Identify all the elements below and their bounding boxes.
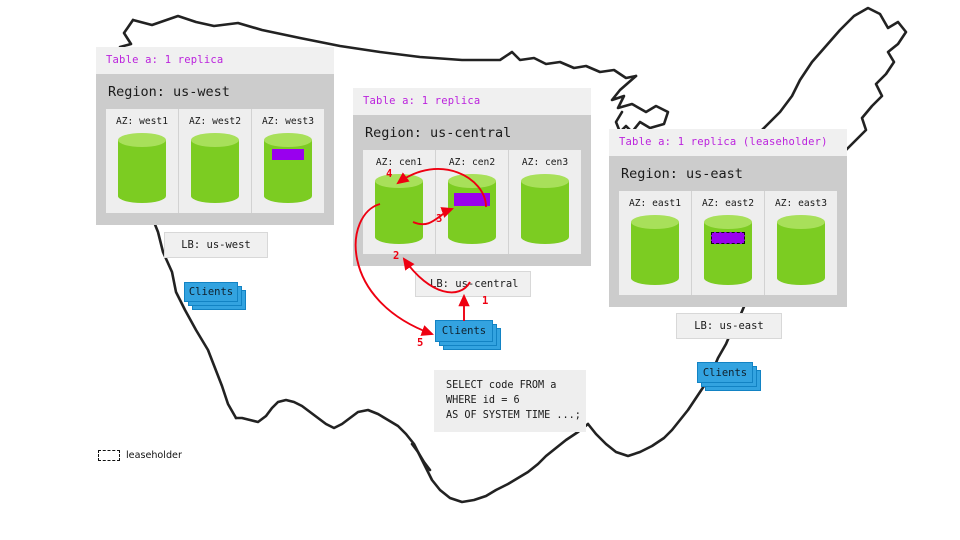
load-balancer-us-west[interactable]: LB: us-west: [164, 232, 268, 258]
cylinder-body: [375, 181, 423, 237]
az-cell-west1[interactable]: AZ: west1: [106, 109, 179, 213]
region-title-us-west: Region: us-west: [106, 74, 324, 109]
clients-label-us-central[interactable]: Clients: [435, 320, 493, 342]
clients-label-us-west[interactable]: Clients: [184, 282, 238, 302]
node-cylinder-cen1[interactable]: [375, 174, 423, 244]
node-cylinder-west2[interactable]: [191, 133, 239, 203]
region-body-us-central: Region: us-central AZ: cen1 AZ: cen2: [353, 115, 591, 266]
node-cylinder-west3[interactable]: [264, 133, 312, 203]
clients-us-central[interactable]: Clients: [435, 320, 505, 350]
az-row-us-central: AZ: cen1 AZ: cen2: [363, 150, 581, 254]
clients-us-east[interactable]: Clients: [697, 362, 761, 390]
az-label-west3: AZ: west3: [262, 116, 314, 127]
region-header-us-east: Table a: 1 replica (leaseholder): [609, 129, 847, 156]
cylinder-top: [375, 174, 423, 188]
node-cylinder-west1[interactable]: [118, 133, 166, 203]
arrow-number-1: 1: [482, 295, 488, 307]
arrow-number-5: 5: [417, 337, 423, 349]
az-label-cen2: AZ: cen2: [449, 157, 495, 168]
region-body-us-east: Region: us-east AZ: east1 AZ: east2: [609, 156, 847, 307]
cylinder-top: [521, 174, 569, 188]
load-balancer-us-central[interactable]: LB: us-central: [415, 271, 531, 297]
az-cell-west3[interactable]: AZ: west3: [252, 109, 324, 213]
node-cylinder-east1[interactable]: [631, 215, 679, 285]
cylinder-top: [704, 215, 752, 229]
region-header-us-west: Table a: 1 replica: [96, 47, 334, 74]
cylinder-body: [191, 140, 239, 196]
az-label-cen1: AZ: cen1: [376, 157, 422, 168]
az-label-cen3: AZ: cen3: [522, 157, 568, 168]
az-cell-cen1[interactable]: AZ: cen1: [363, 150, 436, 254]
az-cell-west2[interactable]: AZ: west2: [179, 109, 252, 213]
cylinder-body: [448, 181, 496, 237]
clients-label-us-east[interactable]: Clients: [697, 362, 753, 383]
clients-us-west[interactable]: Clients: [184, 282, 246, 310]
az-cell-east1[interactable]: AZ: east1: [619, 191, 692, 295]
region-panel-us-east: Table a: 1 replica (leaseholder) Region:…: [609, 129, 847, 307]
cylinder-top: [264, 133, 312, 147]
region-body-us-west: Region: us-west AZ: west1 AZ: west2: [96, 74, 334, 225]
az-label-west2: AZ: west2: [189, 116, 241, 127]
node-cylinder-east3[interactable]: [777, 215, 825, 285]
load-balancer-us-east[interactable]: LB: us-east: [676, 313, 782, 339]
diagram-canvas: Table a: 1 replica Region: us-west AZ: w…: [0, 0, 960, 540]
dashed-rect-icon: [98, 450, 120, 461]
legend: leaseholder: [98, 450, 182, 461]
az-label-east1: AZ: east1: [629, 198, 681, 209]
cylinder-top: [777, 215, 825, 229]
az-row-us-west: AZ: west1 AZ: west2: [106, 109, 324, 213]
cylinder-body: [777, 222, 825, 278]
cylinder-body: [704, 222, 752, 278]
az-label-west1: AZ: west1: [116, 116, 168, 127]
replica-marker-cen2[interactable]: [454, 193, 490, 206]
cylinder-top: [631, 215, 679, 229]
replica-marker-west3[interactable]: [272, 149, 304, 160]
cylinder-body: [521, 181, 569, 237]
sql-query-box: SELECT code FROM a WHERE id = 6 AS OF SY…: [434, 370, 586, 432]
node-cylinder-cen3[interactable]: [521, 174, 569, 244]
cylinder-top: [118, 133, 166, 147]
region-title-us-central: Region: us-central: [363, 115, 581, 150]
node-cylinder-cen2[interactable]: [448, 174, 496, 244]
az-cell-cen2[interactable]: AZ: cen2: [436, 150, 509, 254]
az-cell-cen3[interactable]: AZ: cen3: [509, 150, 581, 254]
region-title-us-east: Region: us-east: [619, 156, 837, 191]
legend-label: leaseholder: [126, 450, 182, 461]
cylinder-body: [631, 222, 679, 278]
arrow-number-3: 3: [436, 213, 442, 225]
az-cell-east2[interactable]: AZ: east2: [692, 191, 765, 295]
az-row-us-east: AZ: east1 AZ: east2: [619, 191, 837, 295]
az-cell-east3[interactable]: AZ: east3: [765, 191, 837, 295]
cylinder-top: [191, 133, 239, 147]
region-panel-us-west: Table a: 1 replica Region: us-west AZ: w…: [96, 47, 334, 225]
region-header-us-central: Table a: 1 replica: [353, 88, 591, 115]
node-cylinder-east2[interactable]: [704, 215, 752, 285]
cylinder-top: [448, 174, 496, 188]
arrow-number-2: 2: [393, 250, 399, 262]
replica-marker-east2-leaseholder[interactable]: [711, 232, 745, 244]
az-label-east2: AZ: east2: [702, 198, 754, 209]
cylinder-body: [118, 140, 166, 196]
az-label-east3: AZ: east3: [775, 198, 827, 209]
arrow-number-4: 4: [386, 168, 392, 180]
